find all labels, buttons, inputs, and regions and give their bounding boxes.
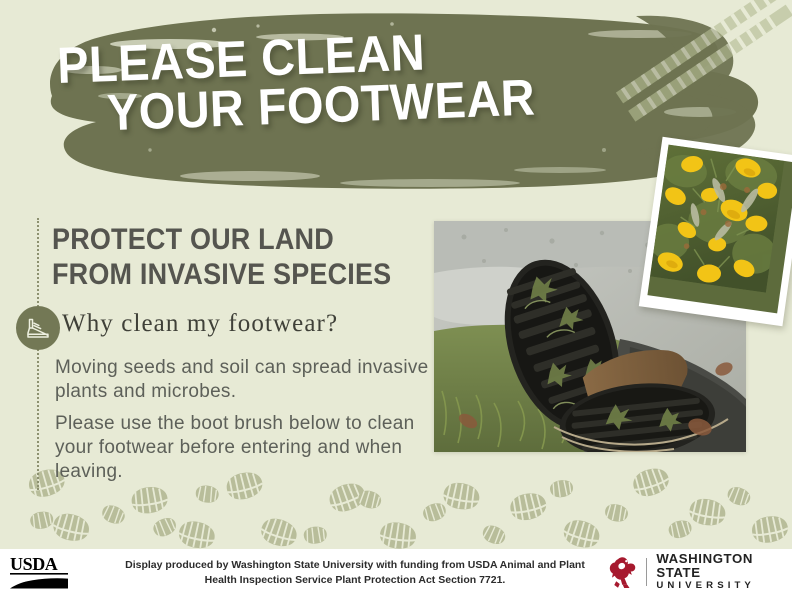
boot-badge — [16, 306, 60, 350]
yellow-gorse-flowers-photo — [639, 137, 792, 327]
hiking-boot-icon — [24, 315, 52, 341]
footer-bar: USDA Display produced by Washington Stat… — [0, 549, 792, 594]
section-headline: PROTECT OUR LAND FROM INVASIVE SPECIES — [52, 222, 394, 292]
wsu-branding: WASHINGTON STATE UNIVERSITY — [607, 552, 785, 592]
wsu-cougar-logo — [607, 553, 642, 591]
usda-wordmark: USDA — [10, 554, 58, 574]
wsu-name-line-1: WASHINGTON STATE — [656, 552, 785, 580]
subheading-question: Why clean my footwear? — [62, 310, 442, 338]
body-paragraph-2: Please use the boot brush below to clean… — [55, 412, 455, 484]
footer-credit-text: Display produced by Washington State Uni… — [120, 558, 590, 587]
dotted-divider — [37, 218, 39, 490]
wsu-name-line-2: UNIVERSITY — [656, 580, 785, 592]
body-paragraph-1: Moving seeds and soil can spread invasiv… — [55, 356, 455, 404]
usda-logo: USDA — [8, 553, 72, 591]
wsu-logo-divider — [646, 558, 647, 586]
poster-canvas: PLEASE CLEAN YOUR FOOTWEAR PROTECT OUR L… — [0, 0, 792, 594]
